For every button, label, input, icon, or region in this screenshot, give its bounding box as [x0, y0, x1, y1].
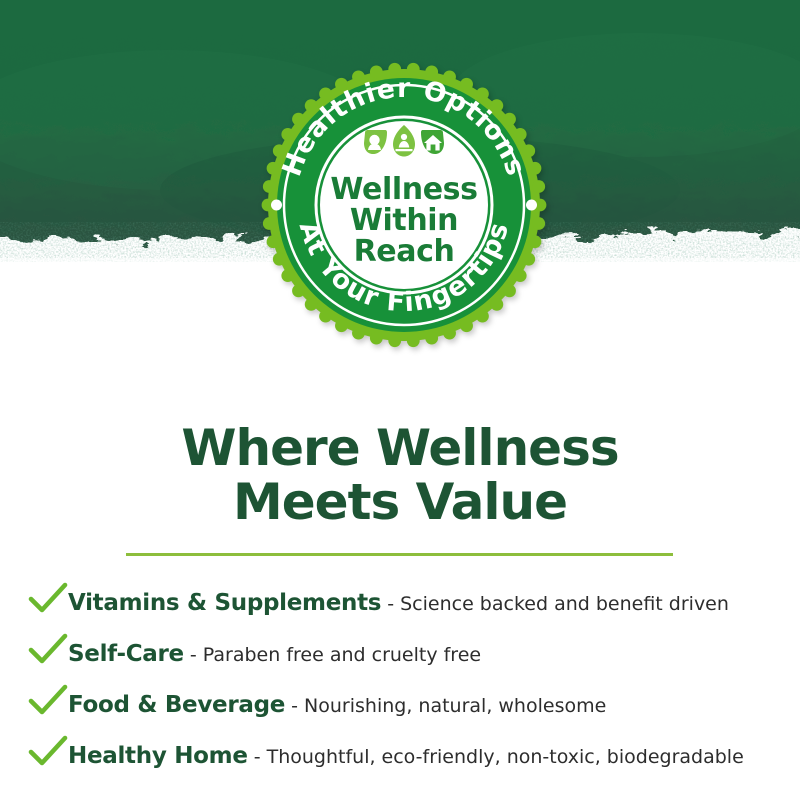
- feature-term: Vitamins & Supplements: [68, 590, 381, 616]
- feature-dash: -: [254, 746, 261, 768]
- check-icon: [28, 684, 68, 718]
- feature-text: Food & Beverage - Nourishing, natural, w…: [68, 692, 606, 718]
- feature-list-item: Food & Beverage - Nourishing, natural, w…: [28, 678, 788, 729]
- feature-description: Thoughtful, eco-friendly, non-toxic, bio…: [267, 746, 744, 768]
- page-title: Where Wellness Meets Value: [0, 421, 800, 529]
- feature-description: Nourishing, natural, wholesome: [304, 695, 606, 717]
- headline-line-2: Meets Value: [0, 475, 800, 529]
- feature-description: Paraben free and cruelty free: [203, 644, 481, 666]
- feature-text: Healthy Home - Thoughtful, eco-friendly,…: [68, 743, 744, 769]
- feature-term: Healthy Home: [68, 743, 248, 769]
- badge-icon-group: [361, 124, 447, 158]
- feature-term: Food & Beverage: [68, 692, 285, 718]
- feature-list-item: Healthy Home - Thoughtful, eco-friendly,…: [28, 729, 788, 780]
- feature-list-item: Vitamins & Supplements - Science backed …: [28, 576, 788, 627]
- badge-dot-left: [271, 200, 282, 211]
- feature-list: Vitamins & Supplements - Science backed …: [28, 576, 788, 780]
- title-divider: [126, 553, 673, 556]
- feature-description: Science backed and benefit driven: [400, 593, 729, 615]
- headline-line-1: Where Wellness: [0, 421, 800, 475]
- feature-text: Vitamins & Supplements - Science backed …: [68, 590, 729, 616]
- badge-graphic: Healthier Options At Your Fingertips: [261, 62, 547, 348]
- leaf-head-icon: [361, 128, 389, 158]
- feature-dash: -: [387, 593, 394, 615]
- leaf-home-icon: [419, 128, 447, 158]
- feature-term: Self-Care: [68, 641, 184, 667]
- feature-dash: -: [190, 644, 197, 666]
- check-icon: [28, 633, 68, 667]
- feature-list-item: Self-Care - Paraben free and cruelty fre…: [28, 627, 788, 678]
- check-icon: [28, 582, 68, 616]
- wellness-badge: Healthier Options At Your Fingertips: [261, 62, 547, 348]
- check-icon: [28, 735, 68, 769]
- badge-dot-right: [526, 200, 537, 211]
- feature-dash: -: [291, 695, 298, 717]
- feature-text: Self-Care - Paraben free and cruelty fre…: [68, 641, 481, 667]
- leaf-meditation-icon: [391, 124, 417, 158]
